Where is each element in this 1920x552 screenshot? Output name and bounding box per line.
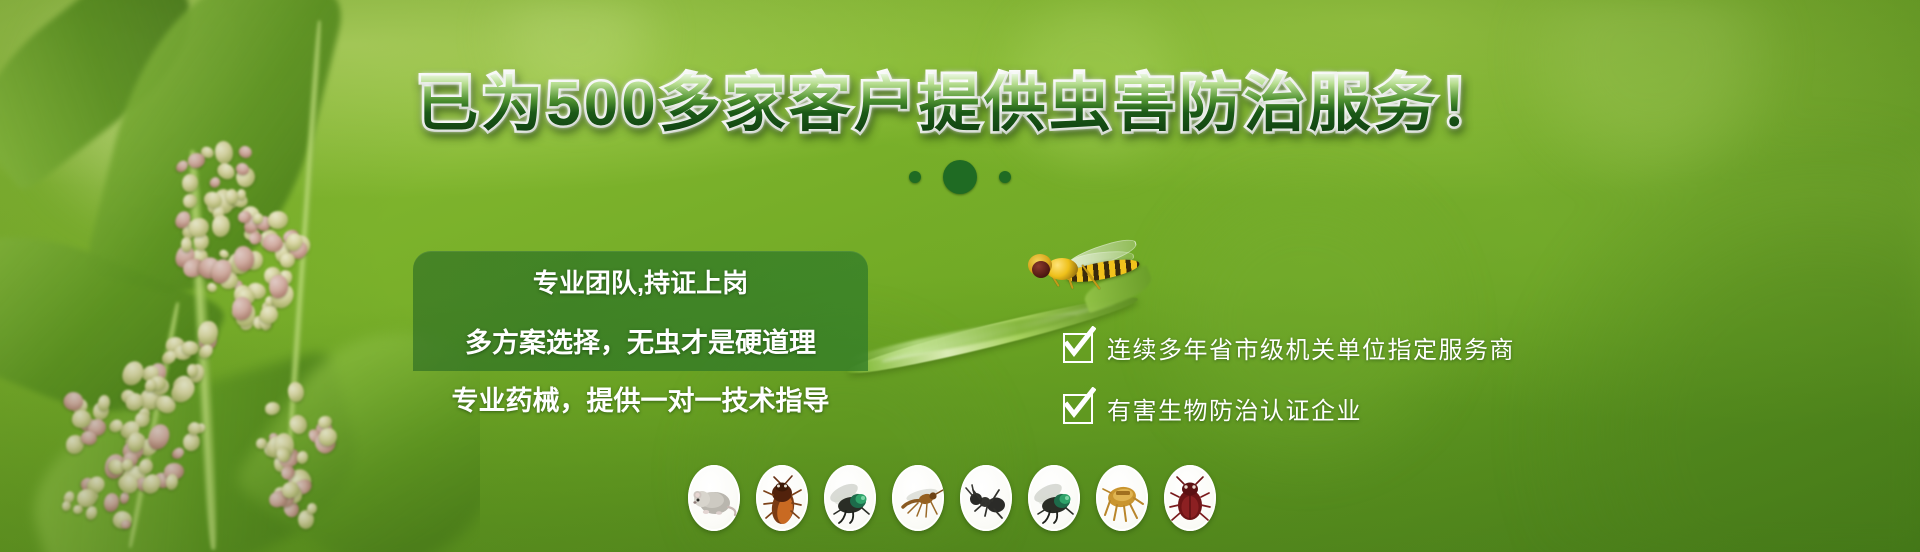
divider-dots [0, 160, 1920, 194]
checklist-item-label: 有害生物防治认证企业 [1107, 391, 1362, 426]
dot-icon [943, 160, 977, 194]
ant-icon [960, 465, 1012, 531]
cockroach-icon [756, 465, 808, 531]
pest-icon-row [688, 465, 1216, 531]
rodent-icon [688, 465, 740, 531]
dot-icon [999, 171, 1011, 183]
promo-banner: 已为500多家客户提供虫害防治服务！ 已为500多家客户提供虫害防治服务！ 专业… [0, 0, 1920, 552]
fly-icon [1028, 465, 1080, 531]
slogan-line-3: 专业药械，提供一对一技术指导 [452, 379, 830, 418]
checkbox-checked-icon [1063, 394, 1093, 424]
credentials-checklist: 连续多年省市级机关单位指定服务商 有害生物防治认证企业 [1063, 330, 1515, 426]
checklist-item-label: 连续多年省市级机关单位指定服务商 [1107, 330, 1515, 365]
bedbug-icon [1164, 465, 1216, 531]
fly-icon [824, 465, 876, 531]
slogan-list: 专业团队,持证上岗 多方案选择，无虫才是硬道理 专业药械，提供一对一技术指导 [413, 251, 868, 391]
mosquito-icon [892, 465, 944, 531]
checkbox-checked-icon [1063, 333, 1093, 363]
checklist-item: 连续多年省市级机关单位指定服务商 [1063, 330, 1515, 365]
slogan-line-2: 多方案选择，无虫才是硬道理 [465, 321, 816, 360]
flea-icon [1096, 465, 1148, 531]
checklist-item: 有害生物防治认证企业 [1063, 391, 1515, 426]
dot-icon [909, 171, 921, 183]
page-title: 已为500多家客户提供虫害防治服务！ [0, 74, 1920, 136]
slogan-line-1: 专业团队,持证上岗 [533, 263, 748, 300]
